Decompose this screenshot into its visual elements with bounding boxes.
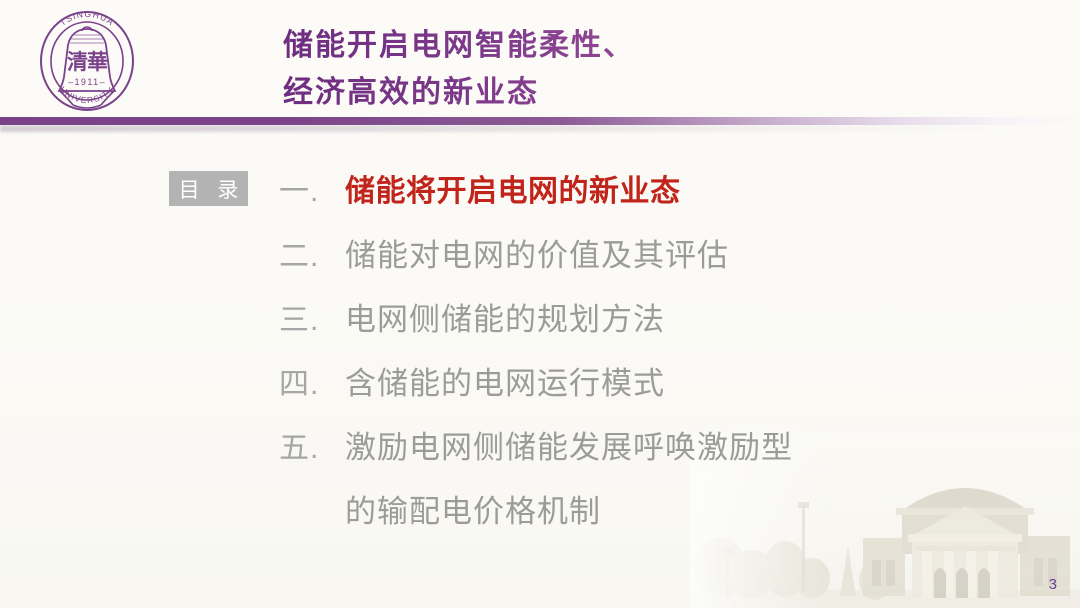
toc-item-1-label: 储能将开启电网的新业态: [345, 166, 681, 210]
toc-item-4-number: 四.: [279, 359, 345, 403]
toc-item-2-number: 二.: [279, 231, 345, 275]
toc-item-5-continuation-row: 的输配电价格机制: [279, 486, 1019, 548]
toc-item-5-number: 五.: [279, 423, 345, 467]
toc-item-5-continuation-label: 的输配电价格机制: [345, 486, 601, 548]
svg-text:UNIVERSITY: UNIVERSITY: [58, 84, 116, 105]
slide-canvas: TSINGHUA UNIVERSITY 清: [0, 0, 1080, 608]
svg-text:–1911–: –1911–: [68, 77, 106, 87]
title-line-1: 储能开启电网智能柔性、: [283, 22, 983, 69]
svg-text:TSINGHUA: TSINGHUA: [58, 9, 117, 28]
slide-header: TSINGHUA UNIVERSITY 清: [0, 0, 1080, 117]
toc-item-5-label: 激励电网侧储能发展呼唤激励型: [345, 422, 793, 467]
toc-item-5[interactable]: 五. 激励电网侧储能发展呼唤激励型: [279, 422, 1019, 486]
toc-item-3-label: 电网侧储能的规划方法: [345, 294, 665, 339]
toc-item-1-number: 一.: [279, 166, 345, 210]
header-divider-bar: [0, 117, 1080, 125]
title-line-2: 经济高效的新业态: [283, 69, 983, 116]
toc-item-4[interactable]: 四. 含储能的电网运行模式: [279, 358, 1019, 422]
tsinghua-seal-logo: TSINGHUA UNIVERSITY 清: [33, 9, 141, 113]
svg-text:清華: 清華: [67, 50, 108, 74]
page-number: 3: [1049, 576, 1057, 593]
toc-item-1[interactable]: 一. 储能将开启电网的新业态: [279, 166, 1019, 230]
toc-item-2-label: 储能对电网的价值及其评估: [345, 230, 729, 275]
toc-list: 一. 储能将开启电网的新业态 二. 储能对电网的价值及其评估 三. 电网侧储能的…: [279, 166, 1019, 548]
slide-title: 储能开启电网智能柔性、 经济高效的新业态: [283, 22, 983, 116]
toc-item-3[interactable]: 三. 电网侧储能的规划方法: [279, 294, 1019, 358]
toc-item-3-number: 三.: [279, 295, 345, 339]
toc-item-2[interactable]: 二. 储能对电网的价值及其评估: [279, 230, 1019, 294]
toc-badge: 目 录: [169, 171, 248, 206]
toc-item-4-label: 含储能的电网运行模式: [345, 358, 665, 403]
header-divider-shadow: [0, 125, 1080, 132]
